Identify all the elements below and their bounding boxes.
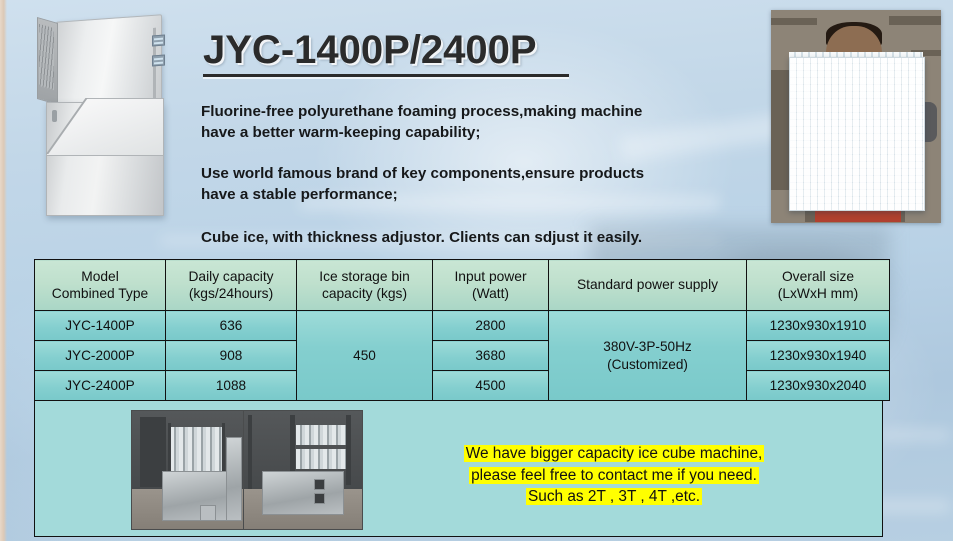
power-supply-line: (Customized)	[549, 356, 746, 374]
ice-machine-factory-photo-1	[131, 410, 251, 530]
ice-machine-render	[28, 10, 160, 240]
cell-daily-capacity: 636	[166, 311, 297, 341]
title-underline	[203, 74, 569, 77]
header-line: (kgs/24hours)	[166, 285, 296, 303]
header-cell-overall-size: Overall size (LxWxH mm)	[747, 260, 890, 311]
feature-paragraph-2: Use world famous brand of key components…	[201, 163, 644, 205]
note-line: Such as 2T , 3T , 4T ,etc.	[404, 486, 824, 508]
worker-holding-ice-slab-photo	[771, 10, 941, 223]
header-cell-power-supply: Standard power supply	[549, 260, 747, 311]
header-line: (LxWxH mm)	[747, 285, 889, 303]
cell-daily-capacity: 1088	[166, 371, 297, 401]
header-line: Model	[35, 268, 165, 286]
header-line: Overall size	[747, 268, 889, 286]
cell-overall-size: 1230x930x2040	[747, 371, 890, 401]
cell-input-power: 2800	[433, 311, 549, 341]
cell-overall-size: 1230x930x1910	[747, 311, 890, 341]
page-title: JYC-1400P/2400P	[203, 28, 537, 73]
header-line: Input power	[433, 268, 548, 286]
power-supply-line: 380V-3P-50Hz	[549, 338, 746, 356]
header-cell-daily-capacity: Daily capacity (kgs/24hours)	[166, 260, 297, 311]
cell-model: JYC-2000P	[35, 341, 166, 371]
feature-line: have a better warm-keeping capability;	[201, 122, 642, 143]
cell-input-power: 4500	[433, 371, 549, 401]
cell-bin-capacity-merged: 450	[297, 311, 433, 401]
spec-table: Model Combined Type Daily capacity (kgs/…	[34, 259, 890, 401]
cell-power-supply-merged: 380V-3P-50Hz (Customized)	[549, 311, 747, 401]
contact-note: We have bigger capacity ice cube machine…	[404, 443, 824, 508]
header-line: Standard power supply	[549, 276, 746, 294]
cell-overall-size: 1230x930x1940	[747, 341, 890, 371]
feature-paragraph-1: Fluorine-free polyurethane foaming proce…	[201, 101, 642, 143]
cell-model: JYC-1400P	[35, 311, 166, 341]
ice-machine-factory-photo-2	[243, 410, 363, 530]
table-row: JYC-2400P 1088 4500 1230x930x2040	[35, 371, 890, 401]
cell-model: JYC-2400P	[35, 371, 166, 401]
feature-line: Cube ice, with thickness adjustor. Clien…	[201, 227, 642, 248]
product-spec-slide: JYC-1400P/2400P Fluorine-free polyuretha…	[0, 0, 953, 541]
table-header-row: Model Combined Type Daily capacity (kgs/…	[35, 260, 890, 311]
table-row: JYC-2000P 908 3680 1230x930x1940	[35, 341, 890, 371]
header-line: (Watt)	[433, 285, 548, 303]
feature-line: Use world famous brand of key components…	[201, 163, 644, 184]
header-line: Combined Type	[35, 285, 165, 303]
header-cell-model: Model Combined Type	[35, 260, 166, 311]
cell-daily-capacity: 908	[166, 341, 297, 371]
note-line: We have bigger capacity ice cube machine…	[404, 443, 824, 465]
header-cell-bin-capacity: Ice storage bin capacity (kgs)	[297, 260, 433, 311]
note-line: please feel free to contact me if you ne…	[404, 465, 824, 487]
header-line: Ice storage bin	[297, 268, 432, 286]
table-row: JYC-1400P 636 450 2800 380V-3P-50Hz (Cus…	[35, 311, 890, 341]
header-line: Daily capacity	[166, 268, 296, 286]
feature-line: have a stable performance;	[201, 184, 644, 205]
cell-input-power: 3680	[433, 341, 549, 371]
feature-paragraph-3: Cube ice, with thickness adjustor. Clien…	[201, 227, 642, 248]
header-line: capacity (kgs)	[297, 285, 432, 303]
feature-line: Fluorine-free polyurethane foaming proce…	[201, 101, 642, 122]
header-cell-input-power: Input power (Watt)	[433, 260, 549, 311]
left-edge-strip	[0, 0, 7, 541]
